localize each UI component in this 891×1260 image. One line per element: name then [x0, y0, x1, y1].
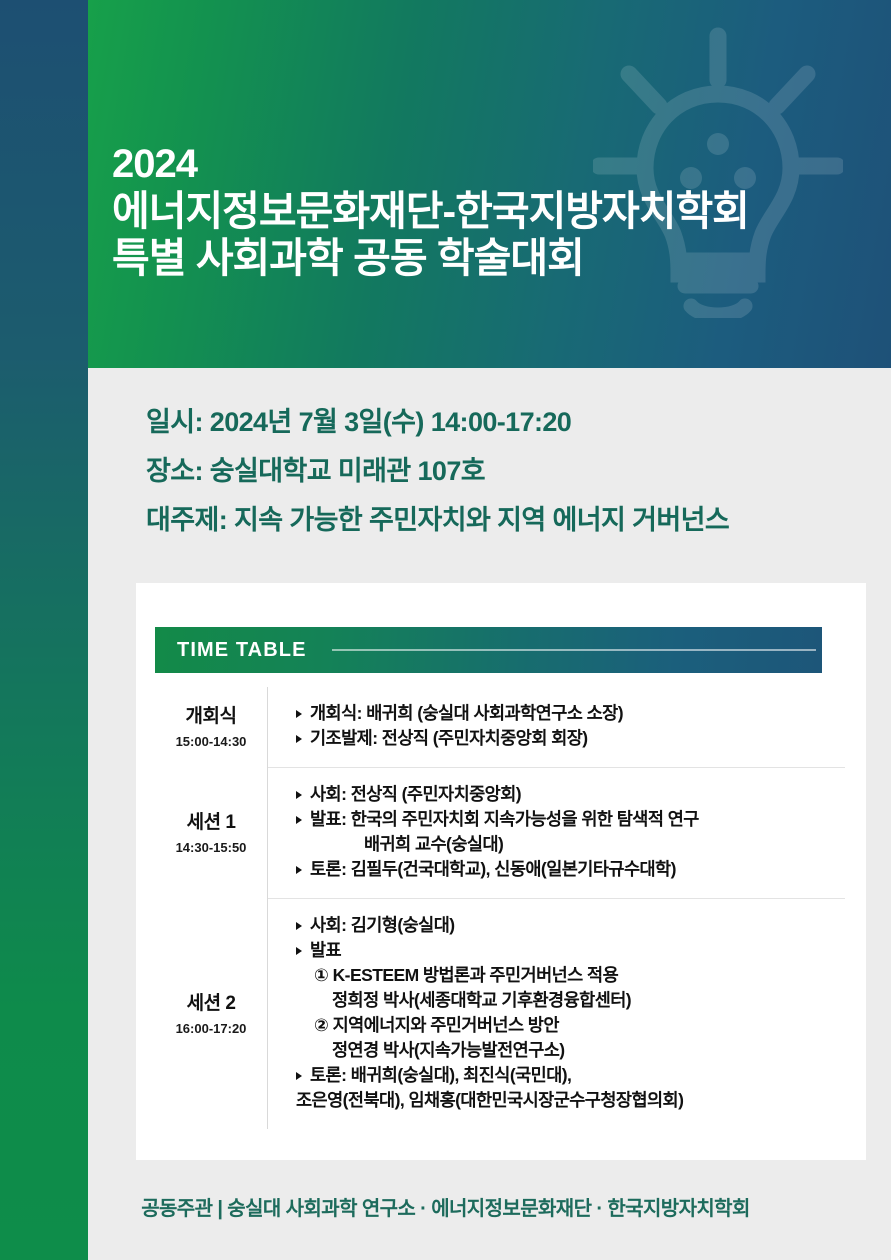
session-item: ② 지역에너지와 주민거버넌스 방안 — [296, 1013, 845, 1038]
event-info: 일시: 2024년 7월 3일(수) 14:00-17:20 장소: 숭실대학교… — [146, 398, 729, 545]
session-item: 발표 — [296, 938, 845, 963]
title-line-2: 특별 사회과학 공동 학술대회 — [112, 235, 749, 282]
timetable-row: 세션 216:00-17:20사회: 김기형(숭실대)발표① K-ESTEEM … — [155, 898, 845, 1129]
session-item: ① K-ESTEEM 방법론과 주민거버넌스 적용 — [296, 963, 845, 988]
session-item: 토론: 배귀희(숭실대), 최진식(국민대), — [296, 1063, 845, 1088]
session-item: 조은영(전북대), 임채홍(대한민국시장군수구청장협의회) — [296, 1088, 845, 1113]
timetable-row-label: 개회식15:00-14:30 — [155, 687, 267, 767]
footer-organizers: 공동주관 | 숭실대 사회과학 연구소 · 에너지정보문화재단 · 한국지방자치… — [0, 1192, 891, 1221]
session-details: 개회식: 배귀희 (숭실대 사회과학연구소 소장)기조발제: 전상직 (주민자치… — [268, 687, 845, 767]
session-item: 배귀희 교수(숭실대) — [296, 832, 845, 857]
session-item: 사회: 전상직 (주민자치중앙회) — [296, 782, 845, 807]
session-time: 15:00-14:30 — [176, 734, 247, 749]
timetable-body: 개회식15:00-14:30개회식: 배귀희 (숭실대 사회과학연구소 소장)기… — [155, 687, 845, 1129]
session-item: 토론: 김필두(건국대학교), 신동애(일본기타규수대학) — [296, 857, 845, 882]
session-details: 사회: 김기형(숭실대)발표① K-ESTEEM 방법론과 주민거버넌스 적용정… — [268, 898, 845, 1129]
session-item: 사회: 김기형(숭실대) — [296, 913, 845, 938]
title-year: 2024 — [112, 140, 749, 188]
session-details: 사회: 전상직 (주민자치중앙회)발표: 한국의 주민자치회 지속가능성을 위한… — [268, 767, 845, 898]
left-accent-bar — [0, 0, 88, 1260]
session-item: 기조발제: 전상직 (주민자치중앙회 회장) — [296, 726, 845, 751]
title-line-1: 에너지정보문화재단-한국지방자치학회 — [112, 188, 749, 235]
session-time: 14:30-15:50 — [176, 840, 247, 855]
session-name: 개회식 — [186, 701, 237, 728]
timetable-rule — [332, 649, 816, 651]
poster-header: 2024 에너지정보문화재단-한국지방자치학회 특별 사회과학 공동 학술대회 — [88, 0, 891, 368]
session-item: 개회식: 배귀희 (숭실대 사회과학연구소 소장) — [296, 701, 845, 726]
timetable-row: 개회식15:00-14:30개회식: 배귀희 (숭실대 사회과학연구소 소장)기… — [155, 687, 845, 767]
timetable-row: 세션 114:30-15:50사회: 전상직 (주민자치중앙회)발표: 한국의 … — [155, 767, 845, 898]
event-topic: 대주제: 지속 가능한 주민자치와 지역 에너지 거버넌스 — [146, 496, 729, 545]
timetable-row-label: 세션 114:30-15:50 — [155, 767, 267, 898]
poster-title: 2024 에너지정보문화재단-한국지방자치학회 특별 사회과학 공동 학술대회 — [112, 140, 749, 282]
session-item: 정희정 박사(세종대학교 기후환경융합센터) — [296, 988, 845, 1013]
session-name: 세션 1 — [187, 807, 236, 834]
session-time: 16:00-17:20 — [176, 1021, 247, 1036]
session-name: 세션 2 — [187, 988, 236, 1015]
event-place: 장소: 숭실대학교 미래관 107호 — [146, 447, 729, 496]
event-date: 일시: 2024년 7월 3일(수) 14:00-17:20 — [146, 398, 729, 447]
timetable-card: TIME TABLE 개회식15:00-14:30개회식: 배귀희 (숭실대 사… — [136, 583, 866, 1160]
session-item: 발표: 한국의 주민자치회 지속가능성을 위한 탐색적 연구 — [296, 807, 845, 832]
timetable-row-label: 세션 216:00-17:20 — [155, 898, 267, 1129]
session-item: 정연경 박사(지속가능발전연구소) — [296, 1038, 845, 1063]
timetable-header-bar: TIME TABLE — [155, 627, 822, 673]
timetable-title: TIME TABLE — [177, 639, 307, 662]
